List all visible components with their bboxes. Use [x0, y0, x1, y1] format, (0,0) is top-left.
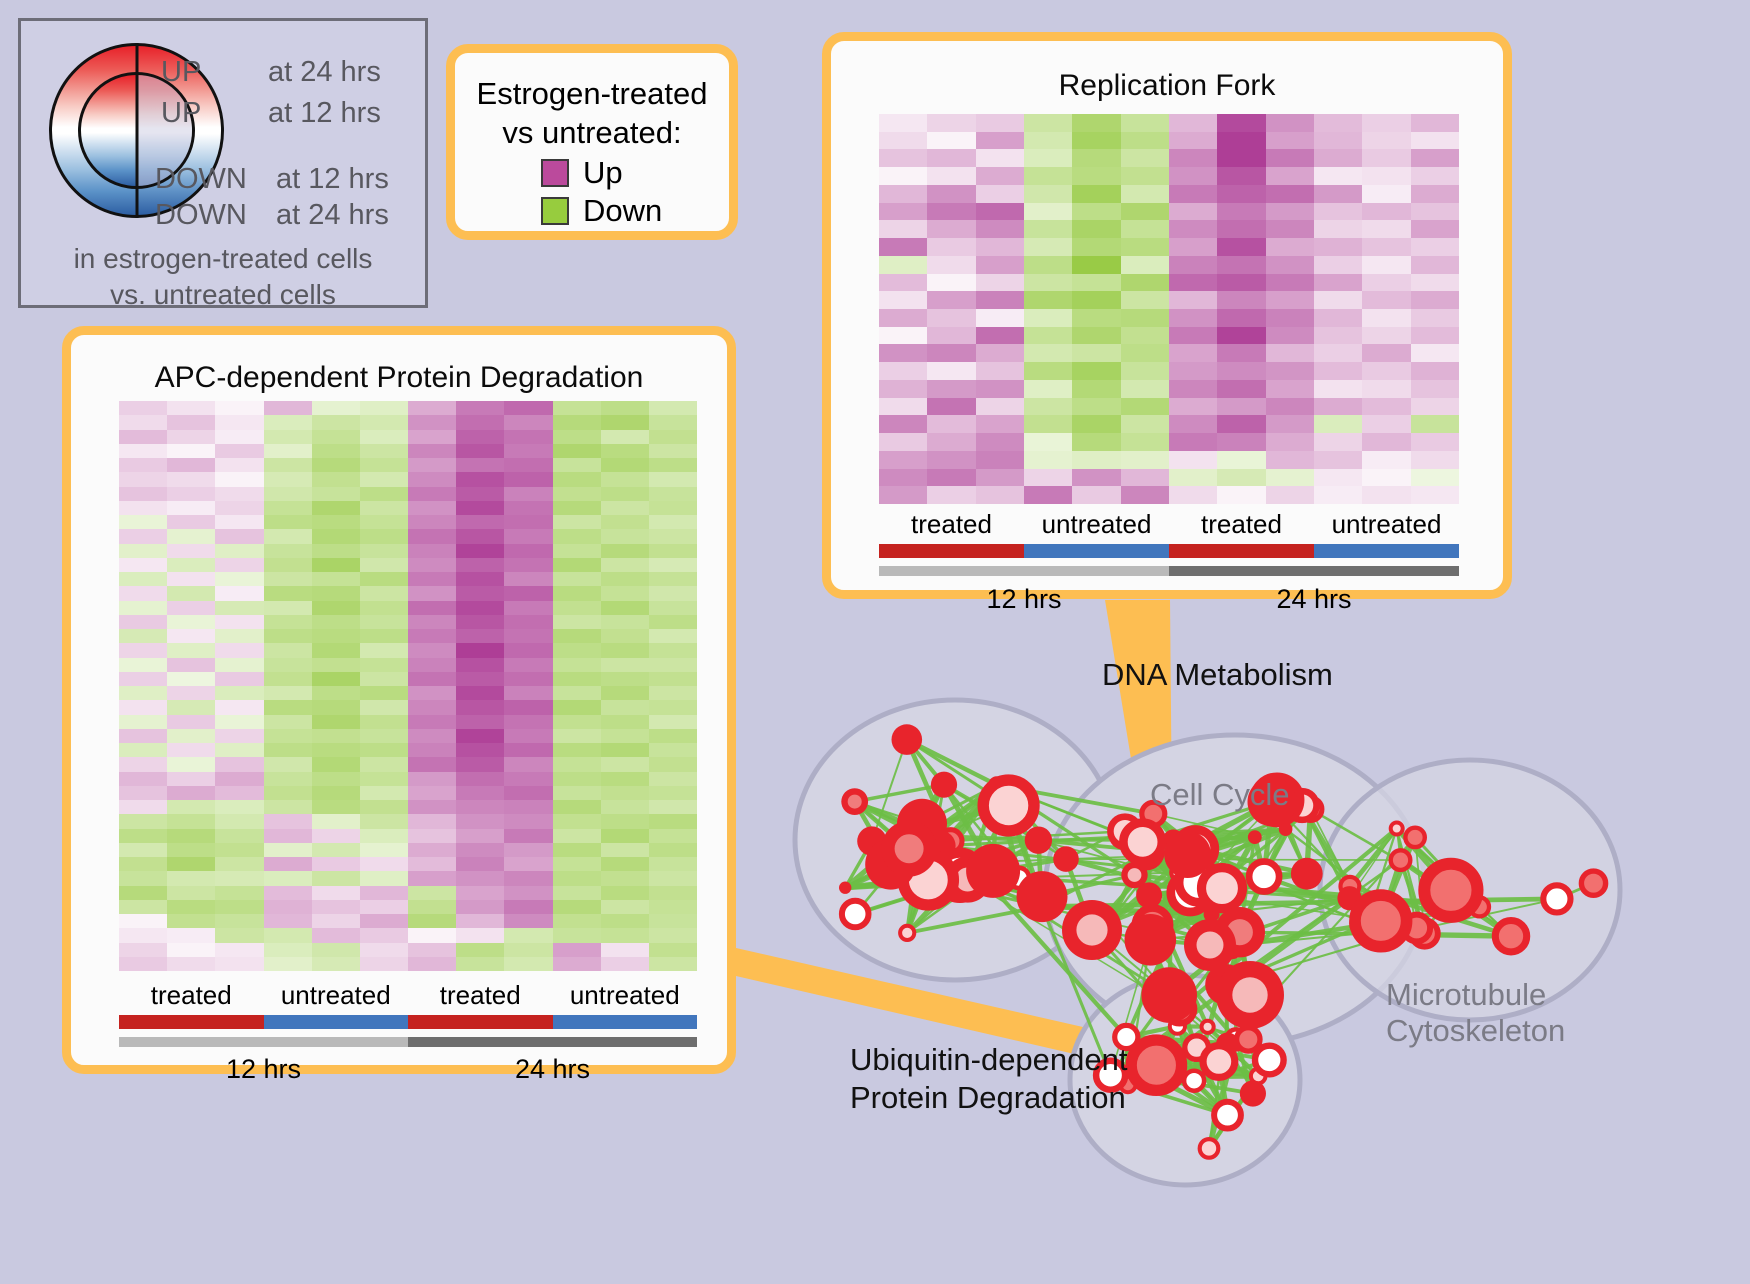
time-label: 24 hrs [408, 1054, 697, 1085]
legend-word-1: UP [161, 97, 201, 130]
legend-footer-line2: vs. untreated cells [21, 279, 425, 311]
sample-label: untreated [264, 980, 409, 1011]
legend-word-2: DOWN [155, 163, 247, 196]
network-node [1391, 850, 1411, 870]
colorbar-legend-box: UP at 24 hrs UP at 12 hrs DOWN at 12 hrs… [18, 18, 428, 308]
network-node [966, 844, 1020, 898]
replication-fork-title: Replication Fork [831, 69, 1503, 103]
replication-fork-treatment-bar [879, 544, 1459, 558]
network-graph [780, 600, 1750, 1279]
key-title-line1: Estrogen-treated [455, 76, 729, 112]
replication-fork-panel: Replication Fork treateduntreatedtreated… [822, 32, 1512, 599]
network-node [1017, 871, 1068, 922]
legend-time-0: at 24 hrs [268, 56, 381, 89]
cluster-label-protein-degradation: Protein Degradation [850, 1081, 1126, 1116]
sample-label: untreated [1314, 509, 1459, 540]
treatment-segment [553, 1015, 698, 1029]
replication-fork-time-bar [879, 566, 1459, 576]
network-node [1237, 1028, 1260, 1051]
legend-word-0: UP [161, 56, 201, 89]
network-node [931, 772, 957, 798]
time-segment [879, 566, 1169, 576]
network-node [1123, 823, 1161, 861]
sample-label: untreated [553, 980, 698, 1011]
cluster-label-ubiquitin: Ubiquitin-dependent [850, 1043, 1128, 1078]
network-node [1200, 1139, 1219, 1158]
sample-label: treated [879, 509, 1024, 540]
network-node [892, 724, 923, 755]
key-label-down: Down [583, 195, 662, 226]
cluster-label-dna-metabolism: DNA Metabolism [1102, 658, 1333, 693]
network-node [1248, 830, 1262, 844]
network-node [1184, 1071, 1204, 1091]
network-node [1240, 1080, 1266, 1106]
cluster-label-cytoskeleton: Cytoskeleton [1386, 1014, 1565, 1049]
legend-footer-line1: in estrogen-treated cells [21, 243, 425, 275]
apc-time-labels: 12 hrs24 hrs [119, 1054, 697, 1085]
replication-fork-heatmap [879, 114, 1459, 504]
treatment-segment [119, 1015, 264, 1029]
key-label-up: Up [583, 157, 623, 188]
network-node [1291, 858, 1323, 890]
sample-label: treated [408, 980, 553, 1011]
apc-treatment-bar [119, 1015, 697, 1029]
network-node [839, 882, 851, 894]
network-node [1391, 823, 1403, 835]
key-item-up: Up [541, 157, 623, 188]
network-node [1581, 871, 1605, 895]
network-node [1203, 1046, 1235, 1078]
sample-label: treated [1169, 509, 1314, 540]
network-node [1025, 827, 1052, 854]
replication-fork-sample-labels: treateduntreatedtreateduntreated [879, 509, 1459, 540]
network-node [842, 901, 869, 928]
treatment-segment [879, 544, 1024, 558]
apc-sample-labels: treateduntreatedtreateduntreated [119, 980, 697, 1011]
legend-word-3: DOWN [155, 199, 247, 232]
legend-time-2: at 12 hrs [276, 163, 389, 196]
network-node [1125, 914, 1177, 966]
cluster-label-cell-cycle: Cell Cycle [1150, 778, 1290, 813]
network-node [983, 780, 1034, 831]
network-node [1543, 885, 1570, 912]
network-node [1249, 862, 1279, 892]
expression-key-card: Estrogen-treated vs untreated: Up Down [446, 44, 738, 240]
pathway-network: DNA Metabolism Cell Cycle Microtubule Cy… [780, 600, 1750, 1279]
up-swatch-icon [541, 159, 569, 187]
time-segment [408, 1037, 697, 1047]
apc-degradation-panel: APC-dependent Protein Degradation treate… [62, 326, 736, 1074]
down-swatch-icon [541, 197, 569, 225]
time-label: 12 hrs [119, 1054, 408, 1085]
sample-label: treated [119, 980, 264, 1011]
key-title-line2: vs untreated: [455, 115, 729, 151]
network-node [1202, 868, 1243, 909]
figure-canvas: UP at 24 hrs UP at 12 hrs DOWN at 12 hrs… [0, 0, 1750, 1279]
network-node [1214, 1102, 1241, 1129]
time-segment [119, 1037, 408, 1047]
network-node [1355, 895, 1407, 947]
network-node [1164, 831, 1211, 878]
legend-time-1: at 12 hrs [268, 97, 381, 130]
network-node [1131, 1040, 1181, 1090]
apc-title: APC-dependent Protein Degradation [71, 361, 727, 395]
apc-time-bar [119, 1037, 697, 1047]
cluster-label-microtubule: Microtubule [1386, 978, 1546, 1013]
network-node [1424, 864, 1477, 917]
treatment-segment [1024, 544, 1169, 558]
network-node [900, 926, 914, 940]
sample-label: untreated [1024, 509, 1169, 540]
treatment-segment [1169, 544, 1314, 558]
treatment-segment [264, 1015, 409, 1029]
network-node [1202, 1021, 1214, 1033]
time-segment [1169, 566, 1459, 576]
network-node [1141, 967, 1197, 1023]
treatment-segment [1314, 544, 1459, 558]
key-item-down: Down [541, 195, 662, 226]
network-node [1405, 828, 1424, 847]
network-node [1255, 1046, 1284, 1075]
treatment-segment [408, 1015, 553, 1029]
network-node [1053, 846, 1079, 872]
network-node [1495, 921, 1526, 952]
apc-heatmap [119, 401, 697, 971]
legend-time-3: at 24 hrs [276, 199, 389, 232]
